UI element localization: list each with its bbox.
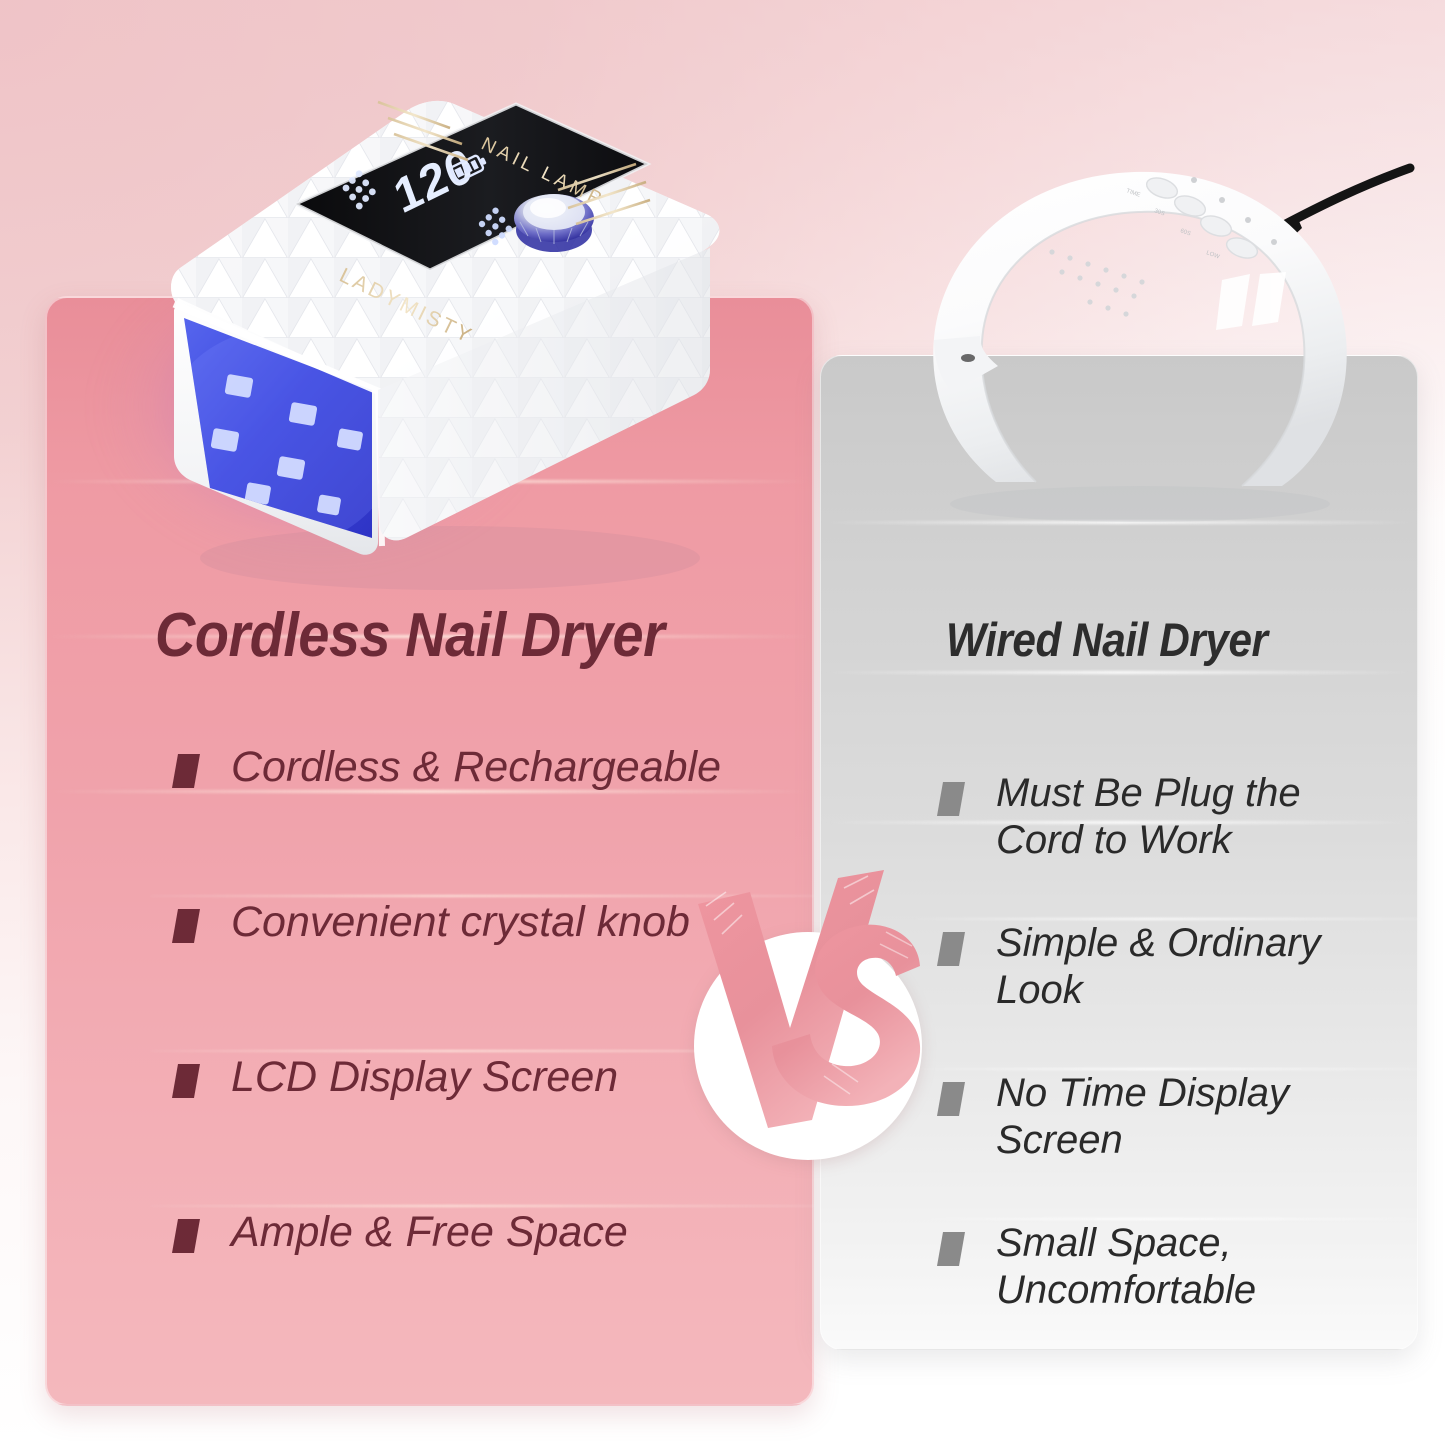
bullet-marker-icon [172,1219,200,1253]
bullet-marker-icon [172,1064,200,1098]
bullet-marker-icon [172,754,200,788]
feature-text: Small Space, Uncomfortable [996,1220,1390,1314]
versus-letters-icon [672,870,952,1160]
feature-text: Simple & Ordinary Look [996,920,1390,1014]
left-panel-heading: Cordless Nail Dryer [155,600,664,671]
cordless-nail-lamp-image: 120 [150,18,750,598]
feature-text: Convenient crystal knob [231,897,690,948]
bullet-marker-icon [937,1232,965,1266]
list-item: Small Space, Uncomfortable [940,1220,1390,1370]
feature-text: Must Be Plug the Cord to Work [996,770,1390,864]
right-panel-heading: Wired Nail Dryer [946,612,1268,667]
feature-text: No Time Display Screen [996,1070,1390,1164]
feature-text: Cordless & Rechargeable [231,742,721,793]
list-item: Must Be Plug the Cord to Work [940,770,1390,920]
bullet-marker-icon [937,782,965,816]
right-feature-list: Must Be Plug the Cord to Work Simple & O… [940,770,1390,1370]
list-item: Ample & Free Space [175,1207,775,1362]
list-item: Simple & Ordinary Look [940,920,1390,1070]
infographic-canvas: 120 [0,0,1445,1445]
feature-text: LCD Display Screen [231,1052,618,1103]
feature-text: Ample & Free Space [231,1207,628,1258]
versus-badge [694,932,922,1160]
panel-sheen [821,671,1417,674]
svg-text:60S: 60S [1179,228,1191,237]
list-item: No Time Display Screen [940,1070,1390,1220]
wired-nail-dryer-image: TIME 30S 60S LOW [890,130,1430,530]
bullet-marker-icon [172,909,200,943]
svg-text:LOW: LOW [1205,250,1220,260]
